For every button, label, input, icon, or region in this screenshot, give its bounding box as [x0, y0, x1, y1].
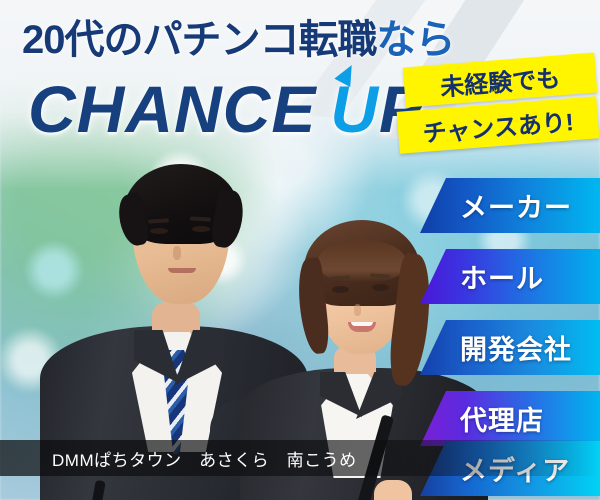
menu-button-hall[interactable]: ホール	[420, 249, 600, 304]
woman-nose	[354, 304, 361, 316]
headline: 20代のパチンコ転職なら	[22, 16, 452, 64]
credit-bar: DMMぱちタウン あさくら 南こうめ	[0, 440, 600, 476]
man-eye-left	[150, 228, 168, 234]
headline-tail: なら	[377, 18, 455, 62]
man-mouth	[168, 268, 196, 273]
menu-button-hall-label: ホール	[460, 257, 544, 296]
menu-button-agency-label: 代理店	[460, 399, 544, 438]
banner-advertisement[interactable]: 20代のパチンコ転職なら CHANCEUP 未経験でも チャンスあり! メーカー…	[0, 0, 600, 500]
woman-eye-right	[372, 284, 389, 291]
menu-button-development-company[interactable]: 開発会社	[420, 320, 600, 375]
woman-teeth	[351, 322, 373, 326]
woman-hand	[374, 480, 412, 500]
man-nose	[173, 246, 181, 260]
logo-chance-up: CHANCEUP	[28, 70, 424, 148]
woman-eye-left	[332, 286, 349, 293]
menu-button-development-company-label: 開発会社	[460, 328, 572, 367]
menu-button-maker-label: メーカー	[460, 186, 572, 225]
man-eye-right	[192, 226, 210, 232]
logo-word-chance: CHANCE	[28, 72, 316, 146]
headline-main: 20代のパチンコ転職	[22, 18, 377, 62]
menu-button-maker[interactable]: メーカー	[420, 178, 600, 233]
credit-text: DMMぱちタウン あさくら 南こうめ	[52, 446, 357, 471]
logo-letter-u: U	[330, 72, 379, 146]
menu-button-agency[interactable]: 代理店	[420, 391, 600, 446]
